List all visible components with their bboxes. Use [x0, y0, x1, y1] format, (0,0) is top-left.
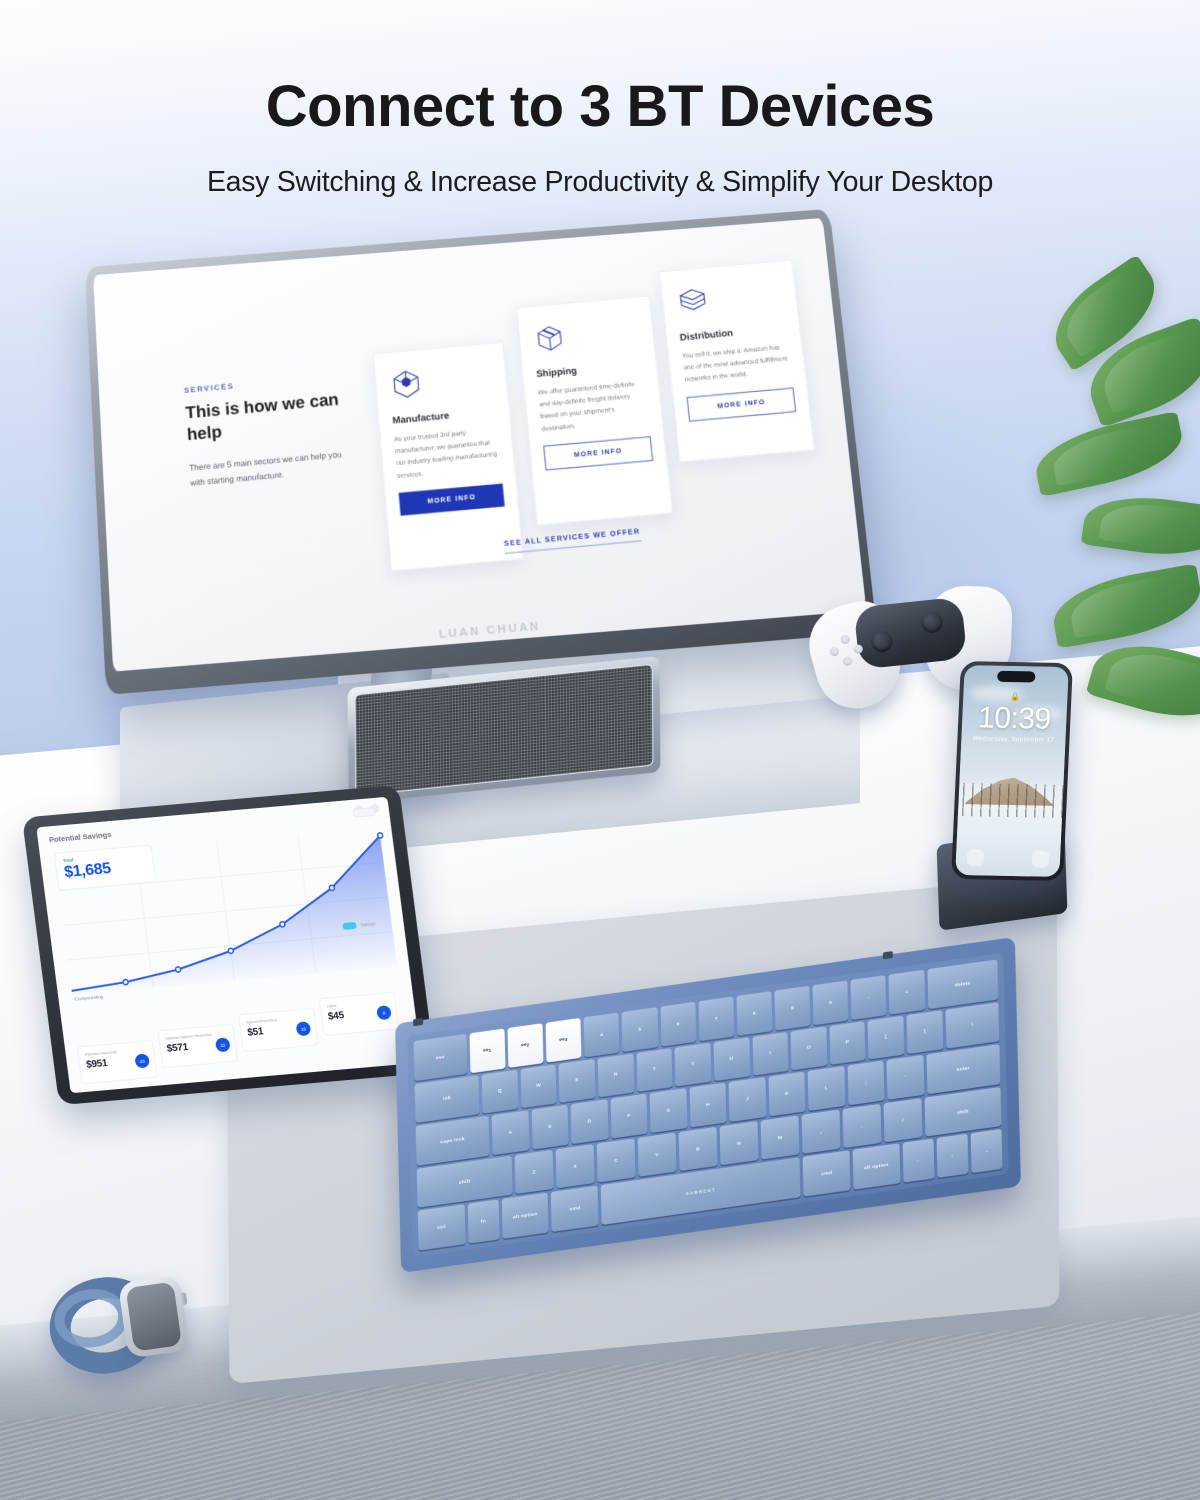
stat-card-row: Planned Accounts $951 48 Interest Upfron…: [72, 996, 413, 1087]
key-d[interactable]: D: [571, 1099, 608, 1144]
key-l[interactable]: L: [808, 1066, 845, 1111]
service-card-title: Distribution: [679, 323, 787, 343]
tablet-frame: Potential Savings: [22, 785, 436, 1106]
key--[interactable]: =: [889, 970, 925, 1014]
phone-clock: 10:39: [962, 701, 1068, 737]
watch-screen[interactable]: [126, 1282, 182, 1352]
bt-channel-number: 2: [526, 1042, 529, 1048]
flashlight-icon[interactable]: [967, 849, 985, 866]
phone-dynamic-island: [997, 671, 1036, 683]
key-v[interactable]: V: [638, 1132, 677, 1177]
legend-swatch: [342, 922, 357, 930]
service-card-shipping[interactable]: Shipping We offer guaranteed time-defini…: [516, 295, 673, 525]
key--[interactable]: ←: [902, 1139, 934, 1183]
key-n[interactable]: N: [720, 1121, 759, 1166]
key-caps-lock[interactable]: caps lock: [416, 1116, 490, 1166]
stat-card[interactable]: Interest Upfront Reduction $571 32: [157, 1024, 238, 1068]
key-h[interactable]: H: [689, 1083, 726, 1128]
wallpaper-trees: [958, 783, 1064, 819]
stat-card[interactable]: Other $45 8: [319, 992, 400, 1036]
curved-monitor: SERVICES This is how we can help There a…: [95, 232, 855, 662]
key-alt-option[interactable]: alt option: [501, 1193, 549, 1239]
key--[interactable]: -: [851, 975, 887, 1019]
key-s[interactable]: S: [531, 1105, 568, 1150]
stacked-layers-icon: [674, 283, 711, 319]
key-k[interactable]: K: [768, 1072, 805, 1117]
stat-card[interactable]: Planned Accounts $951 48: [77, 1040, 158, 1084]
key-6[interactable]: 6: [660, 1002, 696, 1046]
key-alt-option[interactable]: alt option: [853, 1144, 901, 1190]
product-lifestyle-scene: Connect to 3 BT Devices Easy Switching &…: [0, 0, 1200, 1500]
key--[interactable]: .: [843, 1104, 882, 1149]
key-w[interactable]: W: [520, 1064, 557, 1108]
keyboard-brand-label: SABRENT: [686, 1187, 716, 1196]
service-card-body: We offer guaranteed time-definite and da…: [538, 378, 650, 436]
key--[interactable]: \: [945, 1002, 999, 1049]
website-intro: SERVICES This is how we can help There a…: [184, 372, 353, 491]
service-card-manufacture[interactable]: Manufacture As your trusted 3rd party ma…: [373, 342, 524, 572]
key-fn[interactable]: fn: [467, 1200, 499, 1244]
bluetooth-channel-key-1[interactable]: ⚯1: [469, 1029, 505, 1073]
key-tab[interactable]: tab: [415, 1075, 480, 1123]
controller-dpad[interactable]: [828, 633, 865, 666]
more-info-button[interactable]: MORE INFO: [543, 436, 653, 470]
more-info-button[interactable]: MORE INFO: [686, 387, 796, 421]
legend-label: Savings: [360, 921, 376, 927]
plant-leaf: [1048, 563, 1200, 648]
key--[interactable]: ': [887, 1055, 924, 1100]
monitor-screen[interactable]: SERVICES This is how we can help There a…: [93, 218, 866, 672]
service-card-body: You sell it, we ship it. Amazon has one …: [681, 342, 792, 387]
key-p[interactable]: P: [829, 1021, 866, 1065]
key-z[interactable]: Z: [515, 1150, 554, 1195]
monitor-bezel: SERVICES This is how we can help There a…: [85, 209, 877, 695]
service-card-distribution[interactable]: Distribution You sell it, we ship it. Am…: [659, 259, 815, 462]
shipping-box-icon: [531, 320, 568, 356]
key-x[interactable]: X: [556, 1144, 595, 1189]
key-esc[interactable]: esc: [414, 1034, 468, 1081]
dashboard-filter-pill[interactable]: [352, 807, 375, 818]
camera-icon[interactable]: [1032, 850, 1050, 867]
smart-watch[interactable]: [34, 1252, 199, 1403]
bluetooth-channel-key-2[interactable]: ⚯2: [507, 1023, 543, 1067]
smartphone[interactable]: 🔒 10:39 Wednesday, September 17: [951, 661, 1073, 881]
key-o[interactable]: O: [791, 1026, 828, 1070]
key-t[interactable]: T: [636, 1048, 673, 1092]
key-9[interactable]: 9: [774, 986, 810, 1030]
key--[interactable]: ↓: [936, 1134, 968, 1178]
key--[interactable]: [: [868, 1015, 905, 1059]
key--[interactable]: →: [970, 1129, 1002, 1173]
key-cmd[interactable]: cmd: [803, 1151, 851, 1197]
key-j[interactable]: J: [729, 1077, 766, 1122]
service-card-title: Manufacture: [392, 406, 496, 426]
key--[interactable]: ]: [906, 1010, 943, 1054]
keyboard-hinge: [413, 1018, 423, 1026]
chart-x-axis-label: Compounding: [74, 994, 103, 1001]
bt-channel-number: 3: [565, 1036, 568, 1042]
key-c[interactable]: C: [597, 1138, 636, 1183]
key-a[interactable]: A: [492, 1110, 529, 1155]
key-cmd[interactable]: cmd: [551, 1186, 599, 1232]
key-g[interactable]: G: [650, 1088, 687, 1133]
key-m[interactable]: M: [761, 1115, 800, 1160]
key-e[interactable]: E: [559, 1058, 596, 1102]
key-y[interactable]: Y: [675, 1042, 712, 1086]
page-title: Connect to 3 BT Devices: [0, 78, 1200, 136]
phone-lock-screen[interactable]: 🔒 10:39 Wednesday, September 17: [955, 665, 1069, 877]
key-delete[interactable]: delete: [927, 959, 998, 1008]
bt-channel-number: 1: [488, 1047, 491, 1053]
lock-icon: 🔒: [1010, 692, 1020, 701]
tablet[interactable]: Potential Savings: [22, 785, 436, 1106]
website-heading: This is how we can help: [185, 388, 349, 446]
stat-card[interactable]: Spend Reduction $51 16: [238, 1008, 319, 1052]
watch-case: [118, 1275, 190, 1359]
key-enter[interactable]: enter: [926, 1044, 1000, 1094]
service-card-title: Shipping: [536, 360, 644, 380]
tablet-screen[interactable]: Potential Savings: [36, 797, 421, 1093]
service-card-body: As your trusted 3rd party manufacturer, …: [394, 425, 502, 483]
key--[interactable]: ,: [802, 1109, 841, 1154]
key-b[interactable]: B: [679, 1127, 718, 1172]
page-subtitle: Easy Switching & Increase Productivity &…: [0, 166, 1200, 199]
key-r[interactable]: R: [598, 1053, 635, 1097]
key-4[interactable]: 4: [584, 1012, 620, 1056]
key-u[interactable]: U: [713, 1037, 750, 1081]
key-0[interactable]: 0: [813, 980, 849, 1024]
website-paragraph: There are 5 main sectors we can help you…: [189, 447, 353, 490]
key-7[interactable]: 7: [698, 996, 734, 1040]
keyboard-hinge: [883, 951, 893, 959]
more-info-button[interactable]: MORE INFO: [399, 483, 505, 515]
key--[interactable]: ;: [847, 1061, 884, 1106]
plant-leaf: [1081, 489, 1200, 564]
header: Connect to 3 BT Devices Easy Switching &…: [0, 0, 1200, 199]
key-q[interactable]: Q: [482, 1069, 519, 1113]
key-shift[interactable]: shift: [924, 1087, 1001, 1137]
soundbar-speaker-grille: [355, 664, 654, 797]
key-ctrl[interactable]: ctrl: [418, 1205, 466, 1251]
cube-box-icon: [388, 366, 425, 402]
controller-touchpad: [853, 597, 967, 670]
plant-leaf: [1086, 630, 1200, 732]
key-8[interactable]: 8: [736, 991, 772, 1035]
key-5[interactable]: 5: [622, 1007, 658, 1051]
bluetooth-channel-key-3[interactable]: ⚯3: [546, 1018, 582, 1062]
key--[interactable]: /: [884, 1098, 923, 1143]
phone-frame: 🔒 10:39 Wednesday, September 17: [951, 661, 1073, 881]
key-i[interactable]: I: [752, 1031, 789, 1075]
key-f[interactable]: F: [610, 1094, 647, 1139]
